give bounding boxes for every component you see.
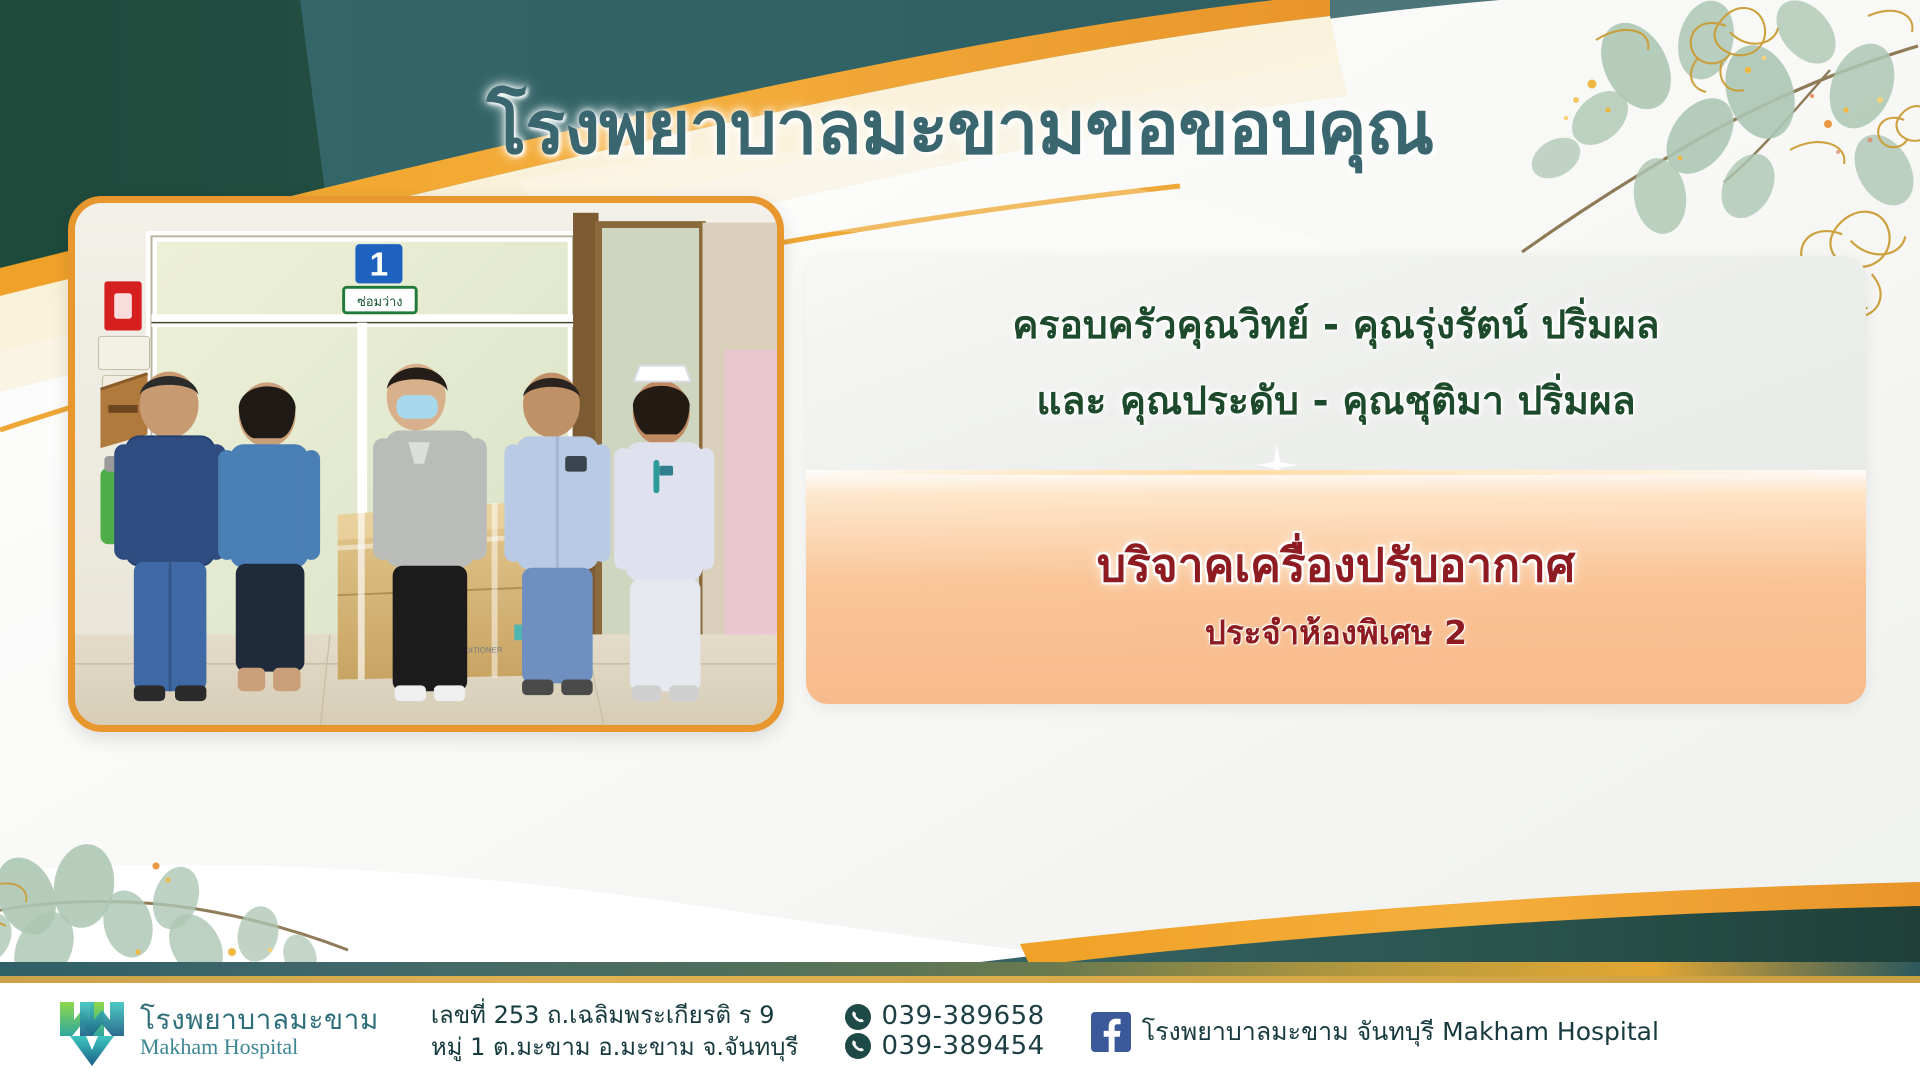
photo-content: 1 ซ่อมว่าง — [75, 203, 777, 729]
phone-number-2[interactable]: 039-389454 — [881, 1032, 1044, 1062]
address-line-1: เลขที่ 253 ถ.เฉลิมพระเกียรติ ร 9 — [431, 1000, 799, 1031]
hospital-name-th: โรงพยาบาลมะขาม — [140, 1005, 379, 1034]
donor-name-line-2: และ คุณประดับ - คุณชุติมา ปริ่มผล — [1036, 370, 1635, 432]
donation-info-panel: ครอบครัวคุณวิทย์ - คุณรุ่งรัตน์ ปริ่มผล … — [806, 256, 1866, 704]
svg-text:ซ่อมว่าง: ซ่อมว่าง — [357, 295, 402, 310]
facebook-page-name[interactable]: โรงพยาบาลมะขาม จันทบุรี Makham Hospital — [1142, 1012, 1659, 1052]
door-number-sign: 1 — [355, 244, 402, 283]
phone-icon — [844, 1032, 872, 1060]
footer-divider-bar — [0, 962, 1920, 976]
gift-sub-text: ประจำห้องพิเศษ 2 — [1205, 606, 1467, 659]
phone-row-2: 039-389454 — [844, 1032, 1044, 1062]
phone-icon — [844, 1003, 872, 1031]
hospital-logo-block: โรงพยาบาลมะขาม Makham Hospital — [56, 996, 379, 1068]
facebook-icon[interactable] — [1091, 1012, 1131, 1052]
donor-name-line-1: ครอบครัวคุณวิทย์ - คุณรุ่งรัตน์ ปริ่มผล — [1012, 294, 1659, 356]
footer-divider-gold — [0, 976, 1920, 983]
gift-description-block: บริจาคเครื่องปรับอากาศ ประจำห้องพิเศษ 2 — [806, 470, 1866, 704]
hospital-name-en: Makham Hospital — [140, 1035, 379, 1058]
donation-photo: 1 ซ่อมว่าง — [68, 196, 784, 732]
phone-row-1: 039-389658 — [844, 1002, 1044, 1032]
facebook-block[interactable]: โรงพยาบาลมะขาม จันทบุรี Makham Hospital — [1091, 1012, 1659, 1052]
address-block: เลขที่ 253 ถ.เฉลิมพระเกียรติ ร 9 หมู่ 1 … — [431, 1000, 799, 1062]
page-title: โรงพยาบาลมะขามขอขอบคุณ — [0, 68, 1920, 186]
svg-text:1: 1 — [370, 247, 389, 284]
donor-names-block: ครอบครัวคุณวิทย์ - คุณรุ่งรัตน์ ปริ่มผล … — [806, 256, 1866, 470]
door-label-sign: ซ่อมว่าง — [344, 287, 417, 312]
hospital-logo-text: โรงพยาบาลมะขาม Makham Hospital — [140, 1005, 379, 1057]
poster-canvas: โรงพยาบาลมะขามขอขอบคุณ — [0, 0, 1920, 1080]
phone-number-1[interactable]: 039-389658 — [881, 1002, 1044, 1032]
phone-block: 039-389658 039-389454 — [844, 1002, 1044, 1062]
footer: โรงพยาบาลมะขาม Makham Hospital เลขที่ 25… — [0, 983, 1920, 1080]
hospital-logo-icon — [56, 996, 128, 1068]
gift-main-text: บริจาคเครื่องปรับอากาศ — [1097, 529, 1575, 602]
address-line-2: หมู่ 1 ต.มะขาม อ.มะขาม จ.จันทบุรี — [431, 1032, 799, 1063]
